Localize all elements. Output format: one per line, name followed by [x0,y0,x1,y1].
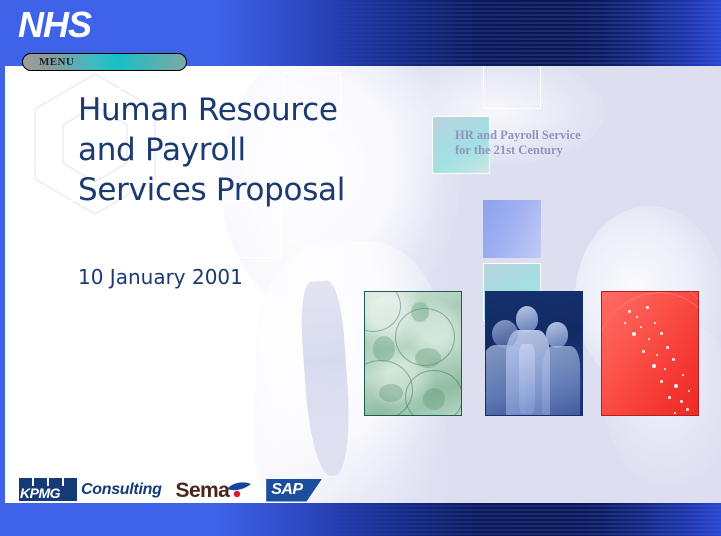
bottom-banner [0,503,721,536]
people-meeting-photo [485,291,583,416]
fibre-spark [628,310,631,313]
cell-ring [364,291,401,332]
menu-button-label: MENU [39,55,74,69]
slide-canvas: HR and Payroll Service for the 21st Cent… [5,66,721,503]
slide-title-line-1: Human Resource [78,90,438,130]
photo-person-head [516,306,538,332]
photo-person-head [492,320,518,348]
photo-shirt-highlight [519,344,535,414]
cell-blob [379,384,403,402]
kpmg-letters: KPMG [20,486,60,501]
partner-logos: KPMG Consulting Sema SAP [19,476,322,503]
fibre-spark [648,338,650,340]
fibre-spark [660,332,663,335]
slide-title: Human Resource and Payroll Services Prop… [78,90,438,210]
menu-button[interactable]: MENU [22,53,187,71]
decor-square-outline-5 [23,200,81,258]
fibre-spark [642,350,645,353]
fibre-spark [682,374,684,376]
decor-square-outline-1 [5,84,48,162]
fibre-spark [632,332,636,336]
kpmg-block-icon: KPMG [19,486,77,501]
sema-wordmark: Sema [176,479,230,502]
green-cells-photo [364,291,462,416]
fibre-spark [666,346,669,349]
tagline-line-1: HR and Payroll Service [455,128,675,143]
sema-swoosh-icon [226,480,252,500]
photo-person-head [546,322,568,348]
bottom-banner-right-glow [601,503,721,536]
kpmg-mark-icon: KPMG [19,478,77,503]
fibre-spark [660,380,663,383]
banner-stripe-texture [324,0,721,66]
tagline-line-2: for the 21st Century [455,143,675,158]
fibre-spark [664,368,666,370]
sema-logo: Sema [176,479,253,502]
kpmg-consulting-word: Consulting [81,481,162,499]
fibre-spark [656,354,658,356]
fibre-spark [688,390,690,392]
fibre-spark [646,306,649,309]
presentation-slide: NHS MENU [0,0,721,536]
cell-blob [373,336,395,362]
fibre-spark [636,316,638,318]
slide-tagline: HR and Payroll Service for the 21st Cent… [455,128,675,157]
fibre-spark [680,400,683,403]
slide-title-line-3: Services Proposal [78,170,438,210]
kpmg-consulting-logo: KPMG Consulting [19,478,162,503]
decor-square-outline-4 [483,66,541,109]
bottom-banner-stripe-texture [324,503,721,536]
fibre-spark [672,358,675,361]
fibre-spark [668,396,671,399]
decor-square-outline-9 [156,326,214,384]
fibre-spark [624,322,626,324]
photo-person-body [542,346,580,416]
fibre-spark [674,412,676,414]
cell-blob [423,388,445,410]
slide-date: 10 January 2001 [78,264,243,290]
fibre-spark [654,322,656,324]
slide-title-line-2: and Payroll [78,130,438,170]
sap-wordmark: SAP [271,480,302,500]
cell-blob [415,348,441,368]
fibre-spark [652,364,656,368]
sap-logo: SAP [266,479,322,502]
nhs-logo: NHS [18,5,91,45]
fibre-spark [686,408,689,411]
red-fibre-optic-photo [601,291,699,416]
fibre-spark [674,384,678,388]
fibre-arc [601,291,699,416]
cell-blob [411,302,429,322]
decor-square-blue-1 [483,200,541,258]
banner-right-glow [601,0,721,66]
fibre-spark [640,326,642,328]
